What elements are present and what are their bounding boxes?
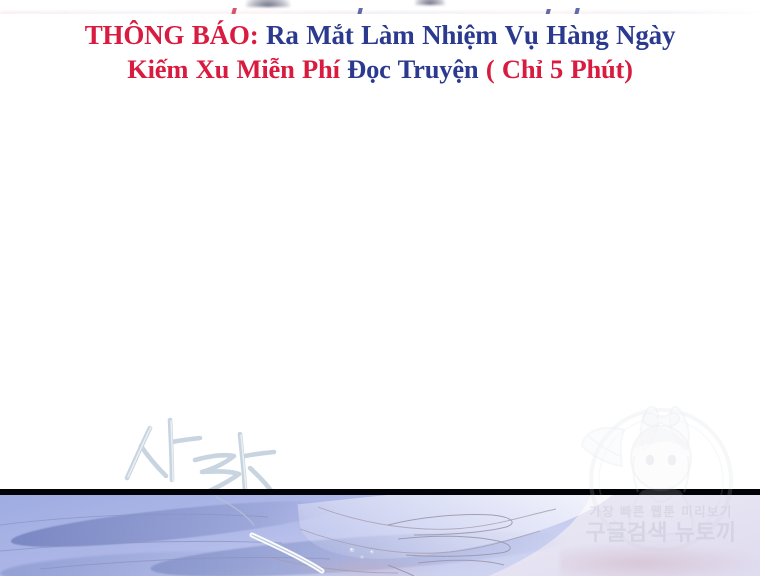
announcement-label: THÔNG BÁO: [85, 20, 259, 50]
remnant-color-band [0, 11, 760, 14]
remnant-tick [545, 9, 551, 14]
remnant-blob-left [246, 0, 290, 7]
announcement-line-2: Kiếm Xu Miễn Phí Đọc Truyện ( Chỉ 5 Phút… [0, 52, 760, 86]
remnant-tick [574, 8, 580, 14]
announcement-line-1: THÔNG BÁO: Ra Mắt Làm Nhiệm Vụ Hàng Ngày [0, 18, 760, 52]
announcement-headline: Ra Mắt Làm Nhiệm Vụ Hàng Ngày [266, 20, 675, 50]
art-line-art [0, 495, 760, 576]
announcement-banner: THÔNG BÁO: Ra Mắt Làm Nhiệm Vụ Hàng Ngày… [0, 18, 760, 86]
artwork-panel [0, 495, 760, 576]
remnant-tick [357, 8, 363, 14]
announcement-reward-text: Kiếm Xu Miễn Phí [127, 54, 340, 84]
remnant-blob-right [415, 0, 445, 5]
comic-page: THÔNG BÁO: Ra Mắt Làm Nhiệm Vụ Hàng Ngày… [0, 0, 760, 576]
announcement-action-text: Đọc Truyện [347, 54, 478, 84]
announcement-duration-text: ( Chỉ 5 Phút) [486, 54, 633, 84]
remnant-tick [231, 8, 237, 14]
cropped-text-remnant [0, 0, 760, 14]
